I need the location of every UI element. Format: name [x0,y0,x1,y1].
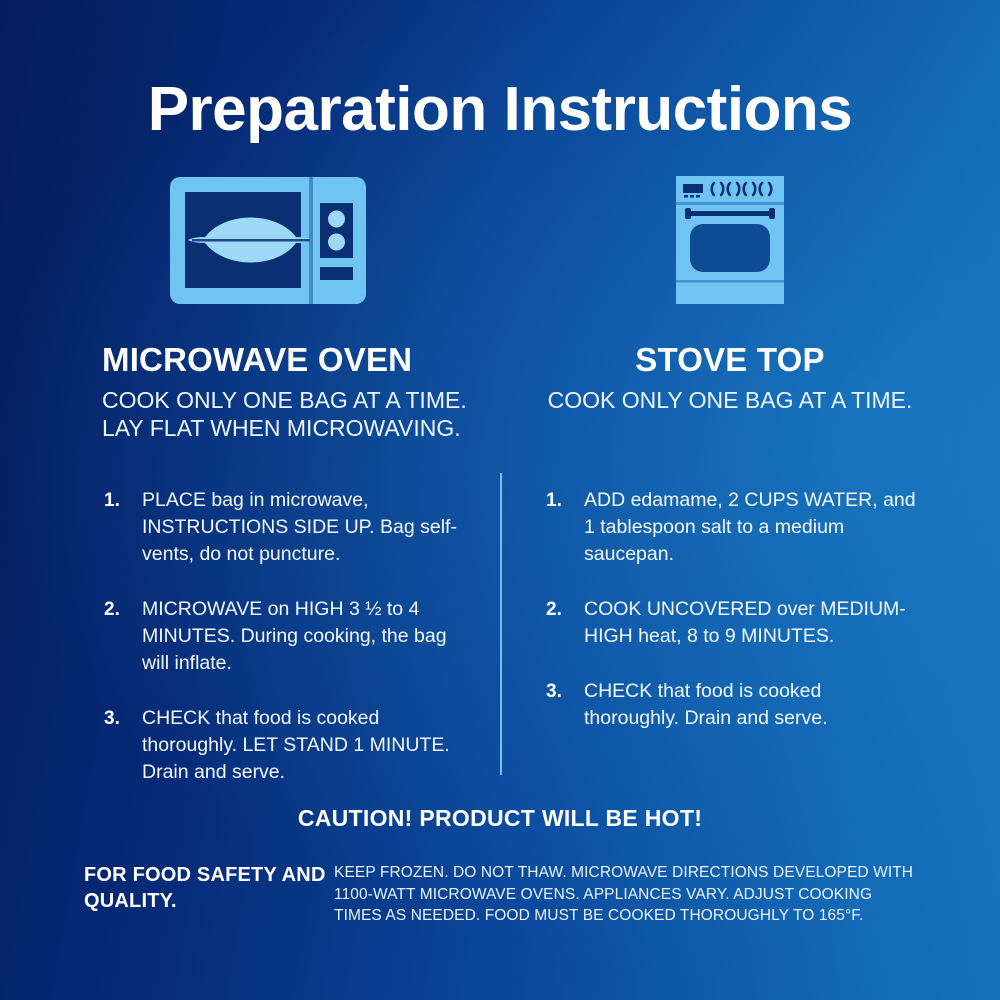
method-subheading-stove: COOK ONLY ONE BAG AT A TIME. [520,386,940,414]
step-number: 3. [104,705,142,732]
step-text: PLACE bag in microwave, INSTRUCTIONS SID… [142,487,464,568]
method-heading-microwave: MICROWAVE OVEN [62,340,482,380]
step-item: 1. ADD edamame, 2 CUPS WATER, and 1 tabl… [546,487,916,568]
step-text: COOK UNCOVERED over MEDIUM-HIGH heat, 8 … [584,596,916,650]
step-number: 2. [104,596,142,623]
caution-banner: CAUTION! PRODUCT WILL BE HOT! [0,805,1000,832]
food-safety-body: KEEP FROZEN. DO NOT THAW. MICROWAVE DIRE… [334,862,924,927]
method-column-microwave: MICROWAVE OVEN COOK ONLY ONE BAG AT A TI… [62,170,482,442]
step-text: CHECK that food is cooked thoroughly. Dr… [584,678,916,732]
method-heading-stove: STOVE TOP [520,340,940,380]
column-divider [500,473,502,775]
step-text: MICROWAVE on HIGH 3 ½ to 4 MINUTES. Duri… [142,596,464,677]
steps-list-stove: 1. ADD edamame, 2 CUPS WATER, and 1 tabl… [546,487,916,760]
page-title: Preparation Instructions [0,74,1000,146]
food-safety-label: FOR FOOD SAFETY AND QUALITY. [84,862,334,914]
step-number: 2. [546,596,584,623]
step-text: CHECK that food is cooked thoroughly. LE… [142,705,464,786]
microwave-oven-icon [62,170,482,310]
step-item: 3. CHECK that food is cooked thoroughly.… [104,705,464,786]
method-subheading-microwave: COOK ONLY ONE BAG AT A TIME. LAY FLAT WH… [62,386,482,442]
step-item: 2. MICROWAVE on HIGH 3 ½ to 4 MINUTES. D… [104,596,464,677]
stove-oven-icon [520,170,940,310]
step-item: 1. PLACE bag in microwave, INSTRUCTIONS … [104,487,464,568]
step-item: 2. COOK UNCOVERED over MEDIUM-HIGH heat,… [546,596,916,650]
step-number: 1. [546,487,584,514]
steps-list-microwave: 1. PLACE bag in microwave, INSTRUCTIONS … [104,487,464,814]
step-number: 3. [546,678,584,705]
footer-section: FOR FOOD SAFETY AND QUALITY. KEEP FROZEN… [84,862,924,927]
preparation-instructions-poster: Preparation Instructions [0,0,1000,1000]
step-item: 3. CHECK that food is cooked thoroughly.… [546,678,916,732]
step-text: ADD edamame, 2 CUPS WATER, and 1 tablesp… [584,487,916,568]
step-number: 1. [104,487,142,514]
method-column-stove: STOVE TOP COOK ONLY ONE BAG AT A TIME. [520,170,940,414]
